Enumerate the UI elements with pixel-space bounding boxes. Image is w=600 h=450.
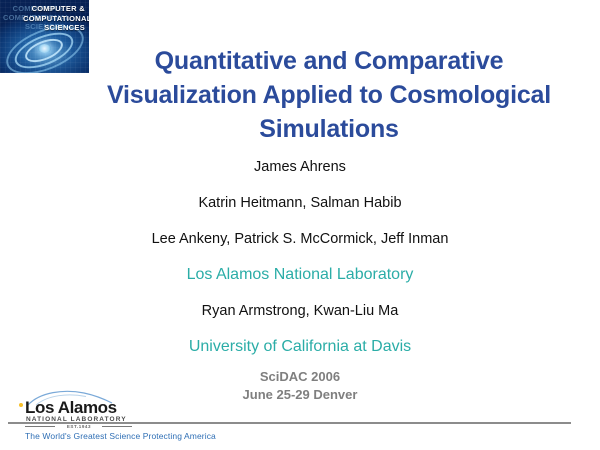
author-line-2: Katrin Heitmann, Salman Habib [60, 194, 540, 212]
ccs-logo-line-3: Sciences [23, 23, 85, 33]
los-alamos-wordmark: Los Alamos [25, 398, 117, 417]
los-alamos-tagline: The World's Greatest Science Protecting … [25, 431, 216, 442]
slide-title: Quantitative and Comparative Visualizati… [96, 44, 562, 146]
los-alamos-logo: Los Alamos NATIONAL LABORATORY EST.1943 … [14, 390, 244, 446]
institution-lanl: Los Alamos National Laboratory [60, 266, 540, 284]
los-alamos-subtitle: NATIONAL LABORATORY [26, 416, 127, 424]
institution-uc-davis: University of California at Davis [60, 338, 540, 356]
slide-title-line-3: Simulations [96, 112, 562, 146]
author-line-3: Lee Ankeny, Patrick S. McCormick, Jeff I… [60, 230, 540, 248]
ccs-logo: Computer & Computational Sciences Comput… [0, 0, 89, 73]
ccs-logo-line-1: Computer & [23, 4, 85, 14]
ccs-logo-core-glow-icon [38, 44, 51, 53]
credits-block: James Ahrens Katrin Heitmann, Salman Hab… [60, 158, 540, 358]
los-alamos-dot-icon [19, 403, 23, 407]
ccs-logo-wordmark: Computer & Computational Sciences [23, 4, 85, 33]
author-line-1: James Ahrens [60, 158, 540, 176]
author-line-4: Ryan Armstrong, Kwan-Liu Ma [60, 302, 540, 320]
slide-title-line-1: Quantitative and Comparative [96, 44, 562, 78]
ccs-logo-line-2: Computational [23, 14, 85, 24]
conference-event: SciDAC 2006 [60, 368, 540, 386]
los-alamos-established: EST.1943 [26, 424, 132, 430]
slide-title-line-2: Visualization Applied to Cosmological [96, 78, 562, 112]
